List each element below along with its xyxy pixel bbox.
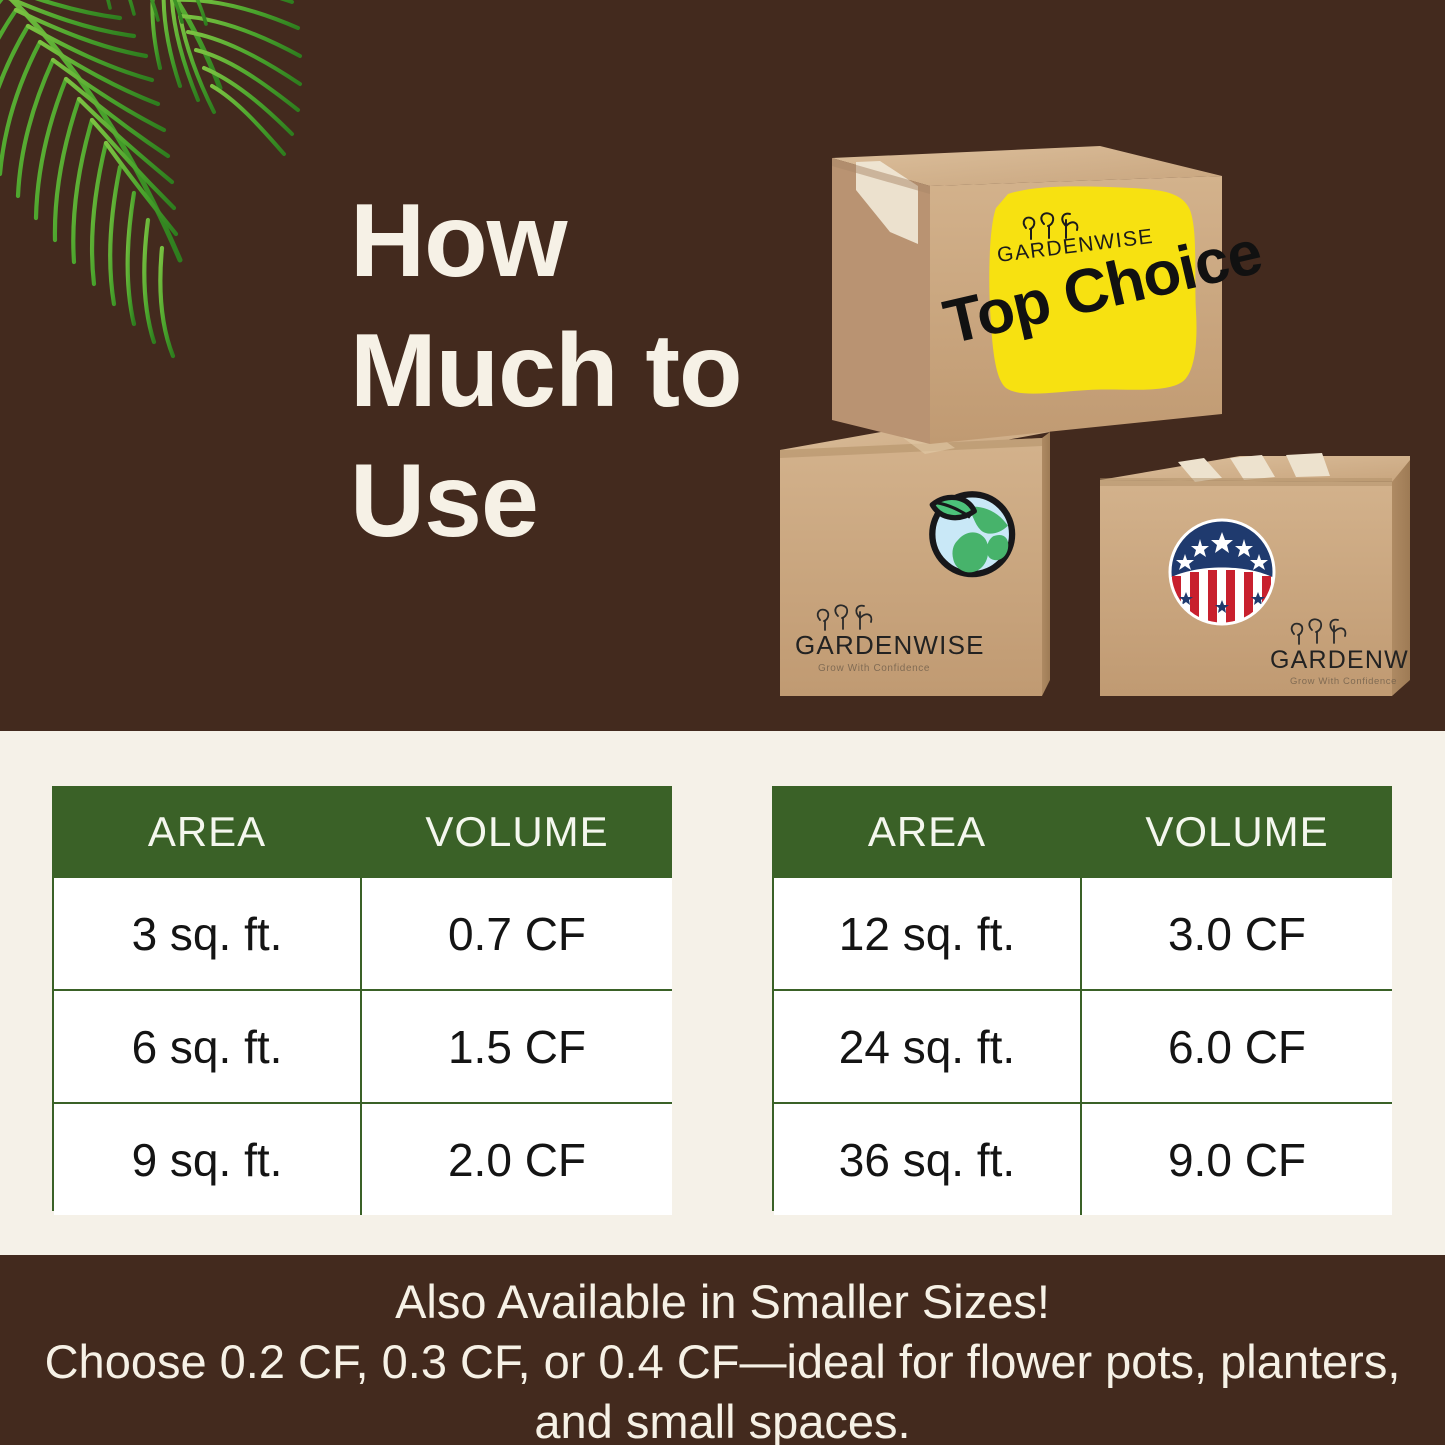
- gardenwise-tagline-left: Grow With Confidence: [818, 663, 930, 674]
- cell-volume: 0.7 CF: [360, 878, 672, 989]
- cell-volume: 2.0 CF: [360, 1104, 672, 1215]
- cell-volume: 1.5 CF: [360, 991, 672, 1102]
- poster-root: How Much to Use: [0, 0, 1445, 1445]
- table-header-row: AREA VOLUME: [54, 788, 670, 876]
- earth-eco-icon: [932, 494, 1012, 574]
- column-header-volume: VOLUME: [1080, 788, 1392, 876]
- product-boxes-illustration: GARDENWISE Top Choice: [770, 120, 1410, 700]
- cell-area: 9 sq. ft.: [54, 1104, 360, 1215]
- footer-line-3: and small spaces.: [0, 1392, 1445, 1445]
- column-header-area: AREA: [774, 788, 1080, 876]
- table-small-sizes: AREA VOLUME 3 sq. ft. 0.7 CF 6 sq. ft. 1…: [52, 786, 672, 1211]
- title-line-2: Much to: [350, 306, 770, 436]
- footer-line-1: Also Available in Smaller Sizes!: [0, 1272, 1445, 1332]
- cell-volume: 9.0 CF: [1080, 1104, 1392, 1215]
- gardenwise-label-left: GARDENWISE: [795, 630, 985, 660]
- footer-note: Also Available in Smaller Sizes! Choose …: [0, 1272, 1445, 1445]
- table-row: 3 sq. ft. 0.7 CF: [54, 876, 670, 989]
- title-line-1: How: [350, 176, 770, 306]
- cell-area: 36 sq. ft.: [774, 1104, 1080, 1215]
- table-header-row: AREA VOLUME: [774, 788, 1390, 876]
- column-header-volume: VOLUME: [360, 788, 672, 876]
- table-row: 6 sq. ft. 1.5 CF: [54, 989, 670, 1102]
- gardenwise-tagline-right: Grow With Confidence: [1290, 676, 1397, 687]
- cell-area: 12 sq. ft.: [774, 878, 1080, 989]
- cell-area: 24 sq. ft.: [774, 991, 1080, 1102]
- table-row: 24 sq. ft. 6.0 CF: [774, 989, 1390, 1102]
- column-header-area: AREA: [54, 788, 360, 876]
- cell-area: 6 sq. ft.: [54, 991, 360, 1102]
- gardenwise-label-right: GARDENWISE: [1270, 646, 1410, 674]
- usa-flag-icon: [1170, 520, 1274, 624]
- title-line-3: Use: [350, 436, 770, 566]
- table-large-sizes: AREA VOLUME 12 sq. ft. 3.0 CF 24 sq. ft.…: [772, 786, 1392, 1211]
- table-row: 12 sq. ft. 3.0 CF: [774, 876, 1390, 989]
- cell-volume: 6.0 CF: [1080, 991, 1392, 1102]
- footer-line-2: Choose 0.2 CF, 0.3 CF, or 0.4 CF—ideal f…: [0, 1332, 1445, 1392]
- table-row: 36 sq. ft. 9.0 CF: [774, 1102, 1390, 1215]
- page-title: How Much to Use: [350, 176, 770, 566]
- cell-volume: 3.0 CF: [1080, 878, 1392, 989]
- cell-area: 3 sq. ft.: [54, 878, 360, 989]
- table-row: 9 sq. ft. 2.0 CF: [54, 1102, 670, 1215]
